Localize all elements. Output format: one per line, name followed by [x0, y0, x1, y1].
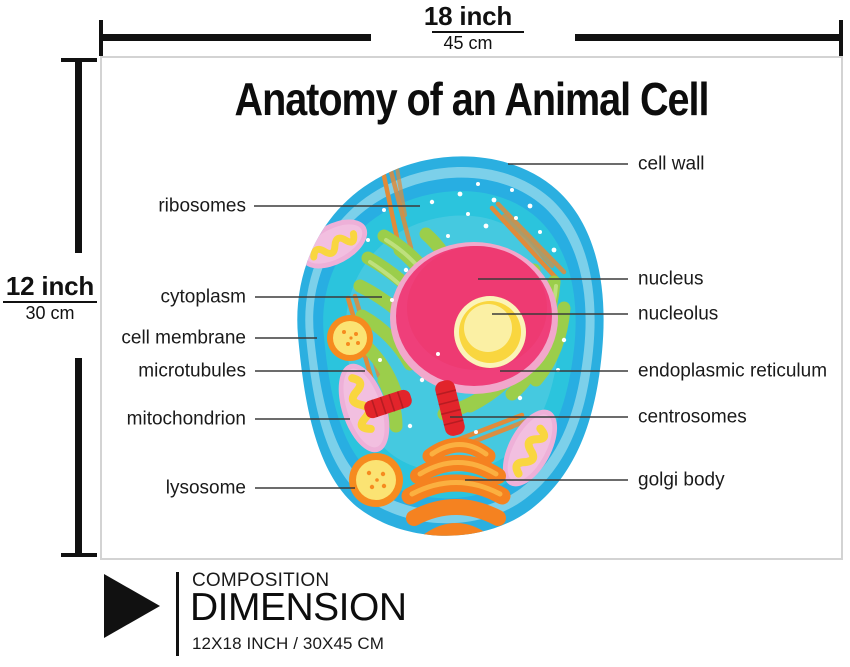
label-cell-membrane[interactable]: cell membrane: [40, 329, 246, 348]
label-mitochondrion[interactable]: mitochondrion: [40, 410, 246, 429]
label-centrosomes[interactable]: centrosomes: [638, 408, 747, 427]
label-nucleus[interactable]: nucleus: [638, 270, 704, 289]
play-triangle-icon: [104, 574, 160, 638]
poster-canvas: 18 inch 45 cm 12 inch 30 cm Anatomy of a…: [0, 0, 850, 667]
left-rule-top-bar: [75, 58, 82, 253]
lysosome-2: [349, 453, 403, 507]
label-ribosomes[interactable]: ribosomes: [40, 197, 246, 216]
label-cytoplasm[interactable]: cytoplasm: [40, 288, 246, 307]
label-golgi-body[interactable]: golgi body: [638, 471, 725, 490]
left-rule-bottom-cap: [61, 553, 97, 557]
lysosome-1: [327, 315, 373, 361]
animal-cell-illustration: [272, 140, 612, 550]
nucleus-group: [390, 242, 558, 394]
composition-title: DIMENSION: [190, 586, 407, 630]
top-rule-right-cap: [839, 20, 843, 56]
label-nucleolus[interactable]: nucleolus: [638, 305, 718, 324]
vertical-divider: [176, 572, 179, 656]
label-endoplasmic-reticulum[interactable]: endoplasmic reticulum: [638, 362, 827, 381]
top-dimension-cm: 45 cm: [383, 33, 553, 53]
composition-meta: 12X18 INCH / 30X45 CM: [192, 634, 384, 654]
label-cell-wall[interactable]: cell wall: [638, 155, 705, 174]
page-title: Anatomy of an Animal Cell: [152, 72, 791, 126]
label-lysosome[interactable]: lysosome: [40, 479, 246, 498]
nucleolus-group: [454, 296, 526, 368]
top-rule-left-bar: [99, 34, 371, 41]
composition-block: COMPOSITION DIMENSION 12X18 INCH / 30X45…: [104, 570, 524, 662]
top-rule-right-bar: [575, 34, 841, 41]
label-microtubules[interactable]: microtubules: [40, 362, 246, 381]
top-dimension-inches: 18 inch: [383, 2, 553, 30]
left-rule-bottom-bar: [75, 358, 82, 556]
